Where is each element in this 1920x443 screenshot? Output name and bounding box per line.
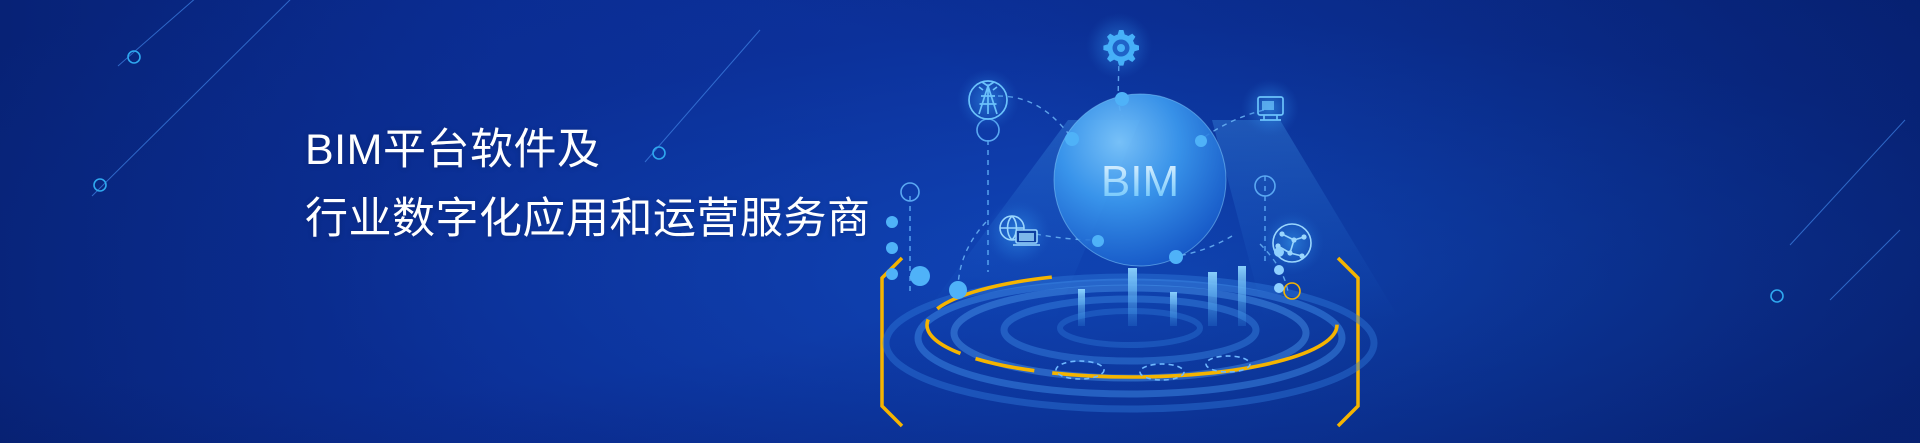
node-gear (1086, 13, 1152, 79)
node-network (1260, 211, 1324, 275)
bim-illustration: BIM (840, 0, 1480, 443)
dot-column-right (1274, 247, 1284, 293)
node-globe-laptop (985, 200, 1051, 266)
bim-sphere: BIM (1054, 94, 1226, 266)
headline-block: BIM平台软件及 行业数字化应用和运营服务商 (305, 116, 871, 254)
sphere-label: BIM (1101, 157, 1179, 206)
node-monitor (1241, 79, 1299, 137)
node-power-tower (957, 69, 1019, 131)
dot-column-left (886, 216, 898, 280)
bim-illustration-svg: BIM (840, 0, 1480, 443)
hero-banner: BIM平台软件及 行业数字化应用和运营服务商 (0, 0, 1920, 443)
headline-line-1: BIM平台软件及 (305, 116, 871, 185)
gear-icon (1103, 30, 1139, 66)
headline-line-2: 行业数字化应用和运营服务商 (305, 185, 871, 254)
